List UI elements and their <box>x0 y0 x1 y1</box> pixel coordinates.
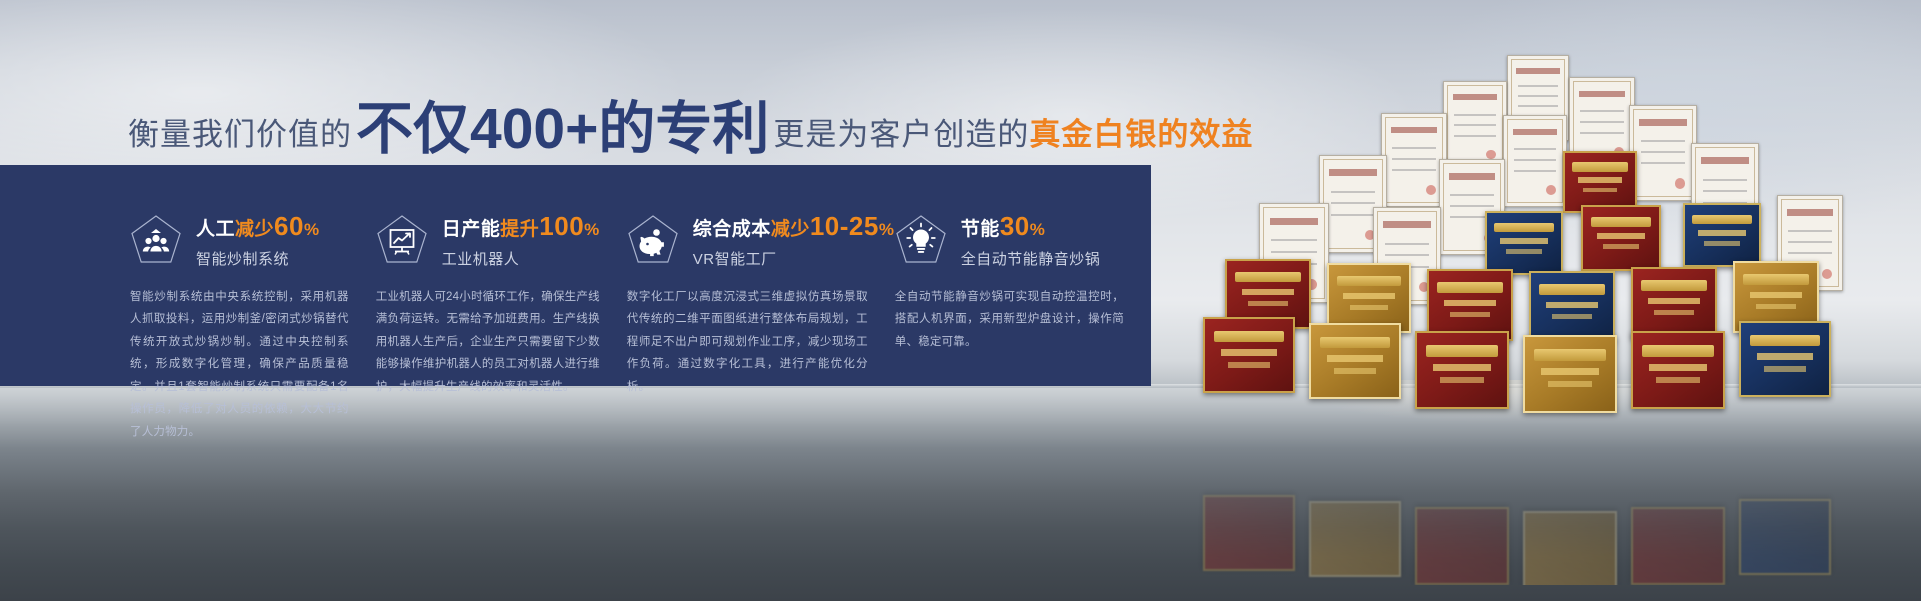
feature-title-emphasis: 减少 <box>235 219 274 240</box>
feature-title-percent: % <box>584 220 600 239</box>
people-group-icon <box>130 214 182 266</box>
feature-item: 日产能提升100% 工业机器人 工业机器人可24小时循环工作，确保生产线满负荷运… <box>376 213 627 386</box>
feature-title-emphasis: 减少 <box>771 219 810 240</box>
feature-subtitle: 智能炒制系统 <box>196 248 320 269</box>
feature-header: 人工减少60% 智能炒制系统 <box>130 213 349 267</box>
page-title: 衡量我们价值的 不仅400+的专利 更是为客户创造的 真金白银的效益 <box>128 80 1253 142</box>
certificate-item <box>1629 105 1697 201</box>
award-plaque-item <box>1485 211 1563 275</box>
feature-title-plain: 综合成本 <box>693 219 771 240</box>
award-plaque-item <box>1415 331 1509 409</box>
award-plaque-item <box>1563 151 1637 213</box>
certificate-item <box>1443 81 1507 171</box>
feature-title-number: 30 <box>1000 211 1030 241</box>
piggy-bank-icon <box>627 214 679 266</box>
feature-title-plain: 日产能 <box>442 219 501 240</box>
certificate-pyramid <box>1185 55 1905 455</box>
feature-item: 节能30% 全自动节能静音炒锅 全自动节能静音炒锅可实现自动控温控时，搭配人机界… <box>895 213 1151 386</box>
feature-title: 节能30% <box>961 212 1101 241</box>
feature-item: 综合成本减少10-25% VR智能工厂 数字化工厂以高度沉浸式三维虚拟仿真场景取… <box>627 213 895 386</box>
award-plaque-item <box>1683 203 1761 267</box>
headline-lead: 衡量我们价值的 <box>128 109 352 154</box>
banner-stage: 衡量我们价值的 不仅400+的专利 更是为客户创造的 真金白银的效益 <box>0 0 1921 601</box>
feature-subtitle: VR智能工厂 <box>693 248 895 269</box>
feature-title-number: 100 <box>539 211 584 241</box>
feature-text: 综合成本减少10-25% VR智能工厂 <box>693 211 895 269</box>
feature-body: 数字化工厂以高度沉浸式三维虚拟仿真场景取代传统的二维平面图纸进行整体布局规划，工… <box>627 286 868 398</box>
light-bulb-icon <box>895 214 947 266</box>
feature-text: 节能30% 全自动节能静音炒锅 <box>961 211 1101 269</box>
feature-title-plain: 节能 <box>961 219 1000 240</box>
chart-board-icon <box>376 214 428 266</box>
award-plaque-item <box>1309 323 1401 399</box>
headline-emphasis: 不仅400+的专利 <box>356 83 769 165</box>
features-list: 人工减少60% 智能炒制系统 智能炒制系统由中央系统控制，采用机器人抓取投料，运… <box>0 165 1151 386</box>
headline-middle: 更是为客户创造的 <box>773 109 1029 154</box>
feature-body: 工业机器人可24小时循环工作，确保生产线满负荷运转。无需给予加班费用。生产线换用… <box>376 286 600 398</box>
feature-title-emphasis: 提升 <box>500 219 539 240</box>
feature-text: 日产能提升100% 工业机器人 <box>442 211 600 269</box>
feature-title-percent: % <box>1030 220 1046 239</box>
features-panel: 人工减少60% 智能炒制系统 智能炒制系统由中央系统控制，采用机器人抓取投料，运… <box>0 165 1151 386</box>
award-plaque-item <box>1631 267 1717 339</box>
feature-text: 人工减少60% 智能炒制系统 <box>196 211 320 269</box>
feature-body: 全自动节能静音炒锅可实现自动控温控时，搭配人机界面，采用新型炉盘设计，操作简单、… <box>895 286 1124 353</box>
award-plaque-item <box>1523 335 1617 413</box>
feature-header: 日产能提升100% 工业机器人 <box>376 213 600 267</box>
feature-title-number: 10-25 <box>810 211 879 241</box>
certificate-item <box>1503 115 1567 207</box>
certificate-item <box>1381 113 1447 207</box>
feature-subtitle: 工业机器人 <box>442 248 600 269</box>
feature-title-plain: 人工 <box>196 219 235 240</box>
feature-title: 日产能提升100% <box>442 212 600 241</box>
award-plaque-item <box>1739 321 1831 397</box>
feature-title-number: 60 <box>274 211 304 241</box>
feature-subtitle: 全自动节能静音炒锅 <box>961 248 1101 269</box>
feature-header: 综合成本减少10-25% VR智能工厂 <box>627 213 868 267</box>
award-plaque-item <box>1203 317 1295 393</box>
award-plaque-item <box>1529 271 1615 343</box>
feature-title: 人工减少60% <box>196 212 320 241</box>
award-plaque-item <box>1631 331 1725 409</box>
feature-body: 智能炒制系统由中央系统控制，采用机器人抓取投料，运用炒制釜/密闭式炒锅替代传统开… <box>130 286 349 443</box>
award-plaque-item <box>1581 205 1661 271</box>
feature-title: 综合成本减少10-25% <box>693 212 895 241</box>
feature-title-percent: % <box>304 220 320 239</box>
feature-title-percent: % <box>879 220 895 239</box>
feature-header: 节能30% 全自动节能静音炒锅 <box>895 213 1124 267</box>
feature-item: 人工减少60% 智能炒制系统 智能炒制系统由中央系统控制，采用机器人抓取投料，运… <box>130 213 376 386</box>
